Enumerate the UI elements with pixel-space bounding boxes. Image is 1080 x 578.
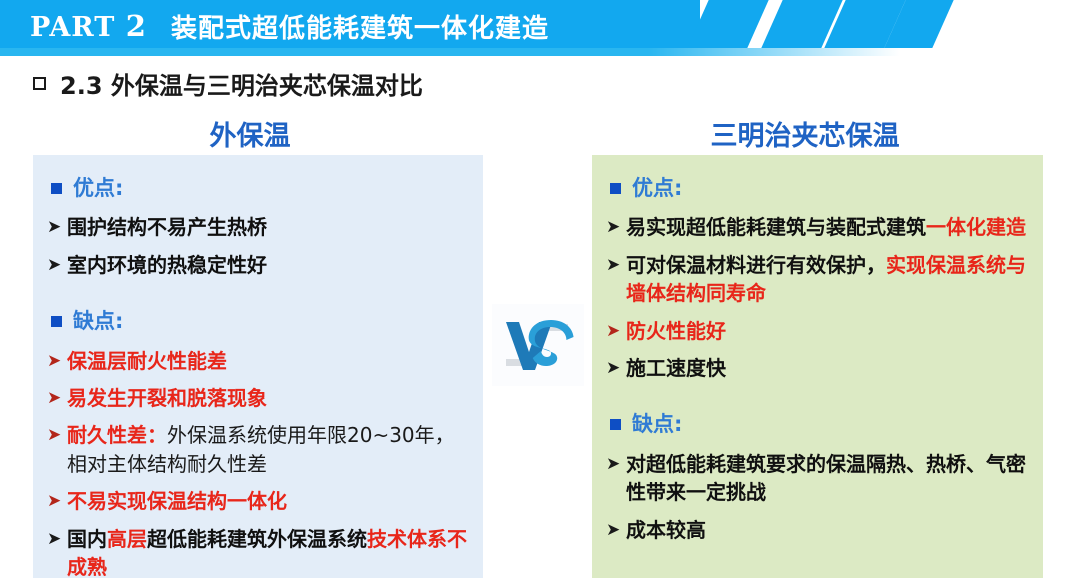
- list-item-text: 防火性能好: [626, 317, 726, 345]
- text-run: 易发生开裂和脱落现象: [67, 386, 267, 410]
- list-item-text: 保温层耐火性能差: [67, 347, 227, 375]
- list-item-text: 围护结构不易产生热桥: [67, 213, 267, 241]
- text-run: 超低能耗建筑外保温系统: [147, 527, 367, 551]
- list-item-text: 室内环境的热稳定性好: [67, 251, 267, 279]
- list-item-text: 不易实现保温结构一体化: [67, 487, 287, 515]
- list-item: ➤不易实现保温结构一体化: [47, 487, 471, 515]
- banner-title-cn: 装配式超低能耗建筑一体化建造: [171, 8, 549, 45]
- text-run: 一体化建造: [926, 215, 1026, 239]
- arrow-bullet-icon: ➤: [47, 529, 67, 550]
- list-item: ➤国内高层超低能耗建筑外保温系统技术体系不成熟: [47, 525, 471, 578]
- list-item: ➤施工速度快: [606, 354, 1031, 382]
- list-item: ➤易实现超低能耗建筑与装配式建筑一体化建造: [606, 213, 1031, 241]
- list-item-text: 易实现超低能耗建筑与装配式建筑一体化建造: [626, 213, 1026, 241]
- square-bullet-icon: [51, 316, 62, 327]
- text-run: 施工速度快: [626, 356, 726, 380]
- arrow-bullet-icon: ➤: [606, 255, 626, 276]
- arrow-bullet-icon: ➤: [47, 425, 67, 446]
- list-item-text: 易发生开裂和脱落现象: [67, 384, 267, 412]
- column-title-left: 外保温: [0, 114, 500, 153]
- text-run: 成本较高: [626, 518, 706, 542]
- list-item: ➤易发生开裂和脱落现象: [47, 384, 471, 412]
- page-title: PART 2 装配式超低能耗建筑一体化建造: [30, 4, 549, 48]
- header-banner: PART 2 装配式超低能耗建筑一体化建造: [0, 0, 1080, 56]
- arrow-bullet-icon: ➤: [47, 217, 67, 238]
- list-item-text: 可对保温材料进行有效保护，实现保温系统与墙体结构同寿命: [626, 251, 1031, 308]
- list-item: ➤对超低能耗建筑要求的保温隔热、热桥、气密性带来一定挑战: [606, 450, 1031, 507]
- list-item-text: 对超低能耗建筑要求的保温隔热、热桥、气密性带来一定挑战: [626, 450, 1031, 507]
- section-heading-label: 优点:: [632, 173, 682, 203]
- arrow-bullet-icon: ➤: [47, 351, 67, 372]
- list-section-heading: 缺点:: [51, 306, 471, 336]
- text-run: 可对保温材料进行有效保护，: [626, 253, 886, 277]
- list-section-heading: 优点:: [51, 173, 471, 203]
- arrow-bullet-icon: ➤: [47, 491, 67, 512]
- list-item: ➤保温层耐火性能差: [47, 347, 471, 375]
- arrow-bullet-icon: ➤: [606, 217, 626, 238]
- section-subtitle-text: 2.3 外保温与三明治夹芯保温对比: [60, 66, 423, 101]
- text-run: 室内环境的热稳定性好: [67, 253, 267, 277]
- section-heading-label: 缺点:: [632, 409, 682, 439]
- text-run: 围护结构不易产生热桥: [67, 215, 267, 239]
- comparison-panel-sandwich-insulation: 优点:➤易实现超低能耗建筑与装配式建筑一体化建造➤可对保温材料进行有效保护，实现…: [592, 155, 1043, 578]
- square-bullet-icon: [610, 419, 621, 430]
- list-item-text: 成本较高: [626, 516, 706, 544]
- square-bullet-icon: [51, 183, 62, 194]
- arrow-bullet-icon: ➤: [606, 454, 626, 475]
- list-item: ➤成本较高: [606, 516, 1031, 544]
- list-item-text: 国内高层超低能耗建筑外保温系统技术体系不成熟: [67, 525, 471, 578]
- list-section-heading: 优点:: [610, 173, 1031, 203]
- list-section-heading: 缺点:: [610, 409, 1031, 439]
- comparison-panel-external-insulation: 优点:➤围护结构不易产生热桥➤室内环境的热稳定性好缺点:➤保温层耐火性能差➤易发…: [33, 155, 483, 578]
- text-run: 保温层耐火性能差: [67, 349, 227, 373]
- text-run: 易实现超低能耗建筑与装配式建筑: [626, 215, 926, 239]
- section-heading-label: 缺点:: [73, 306, 123, 336]
- list-item: ➤耐久性差：外保温系统使用年限20~30年，相对主体结构耐久性差: [47, 421, 471, 478]
- arrow-bullet-icon: ➤: [606, 321, 626, 342]
- arrow-bullet-icon: ➤: [47, 255, 67, 276]
- section-spacer: [606, 391, 1031, 405]
- square-outline-icon: [33, 77, 46, 90]
- section-subtitle: 2.3 外保温与三明治夹芯保温对比: [33, 66, 423, 101]
- text-run: 高层: [107, 527, 147, 551]
- square-bullet-icon: [610, 183, 621, 194]
- list-item: ➤室内环境的热稳定性好: [47, 251, 471, 279]
- text-run: 耐久性差：: [67, 423, 167, 447]
- banner-underline: [0, 48, 900, 56]
- text-run: 对超低能耗建筑要求的保温隔热、热桥、气密性带来一定挑战: [626, 452, 1026, 504]
- vs-badge: [492, 304, 584, 386]
- part-label: PART 2: [30, 9, 147, 43]
- arrow-bullet-icon: ➤: [606, 520, 626, 541]
- section-spacer: [47, 288, 471, 302]
- arrow-bullet-icon: ➤: [606, 358, 626, 379]
- text-run: 不易实现保温结构一体化: [67, 489, 287, 513]
- text-run: 防火性能好: [626, 319, 726, 343]
- list-item-text: 施工速度快: [626, 354, 726, 382]
- arrow-bullet-icon: ➤: [47, 388, 67, 409]
- part-number: 2: [126, 9, 147, 43]
- list-item-text: 耐久性差：外保温系统使用年限20~30年，相对主体结构耐久性差: [67, 421, 471, 478]
- column-title-right: 三明治夹芯保温: [560, 114, 1050, 153]
- list-item: ➤围护结构不易产生热桥: [47, 213, 471, 241]
- text-run: 国内: [67, 527, 107, 551]
- list-item: ➤可对保温材料进行有效保护，实现保温系统与墙体结构同寿命: [606, 251, 1031, 308]
- list-item: ➤防火性能好: [606, 317, 1031, 345]
- section-heading-label: 优点:: [73, 173, 123, 203]
